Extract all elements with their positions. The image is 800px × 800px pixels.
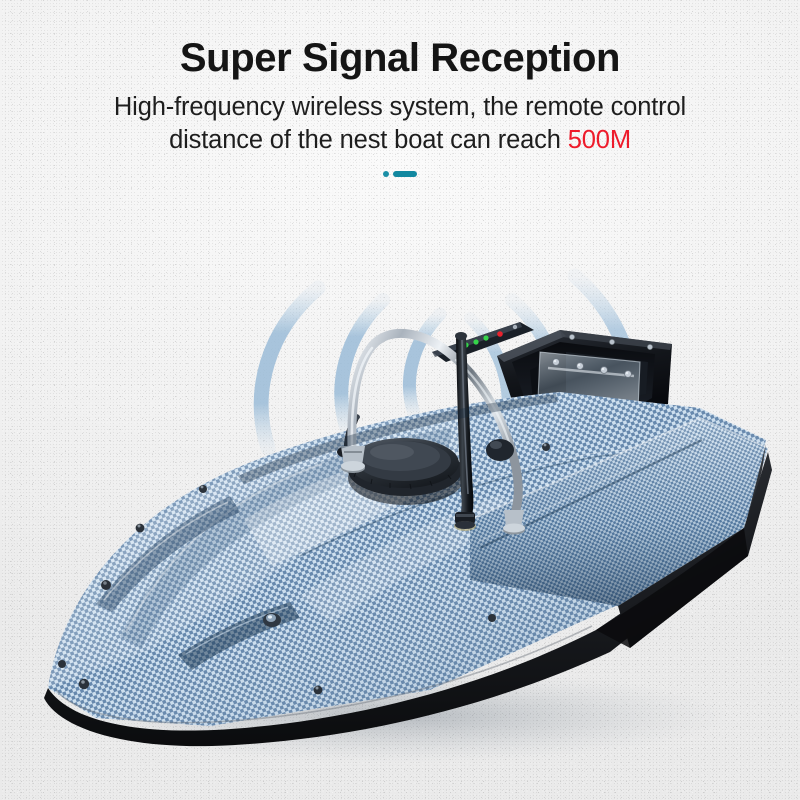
- divider-bar: [393, 171, 417, 177]
- deck-ball-fitting: [486, 439, 514, 461]
- led-green-3: [483, 335, 488, 340]
- page-subtitle: High-frequency wireless system, the remo…: [0, 91, 800, 157]
- subtitle-line-2-text: distance of the nest boat can reach: [169, 126, 568, 154]
- subtitle-line-2: distance of the nest boat can reach 500M: [0, 124, 800, 157]
- accent-divider: [0, 171, 800, 177]
- subtitle-line-1: High-frequency wireless system, the remo…: [0, 91, 800, 124]
- led-red-1: [497, 331, 503, 337]
- page-title: Super Signal Reception: [0, 36, 800, 80]
- divider-dot-icon: [383, 171, 389, 177]
- header-block: Super Signal Reception High-frequency wi…: [0, 36, 800, 157]
- product-feature-banner: Super Signal Reception High-frequency wi…: [0, 0, 800, 800]
- sonar-hatch-lid: [348, 438, 464, 505]
- led-green-2: [473, 339, 478, 344]
- distance-highlight: 500M: [568, 126, 631, 154]
